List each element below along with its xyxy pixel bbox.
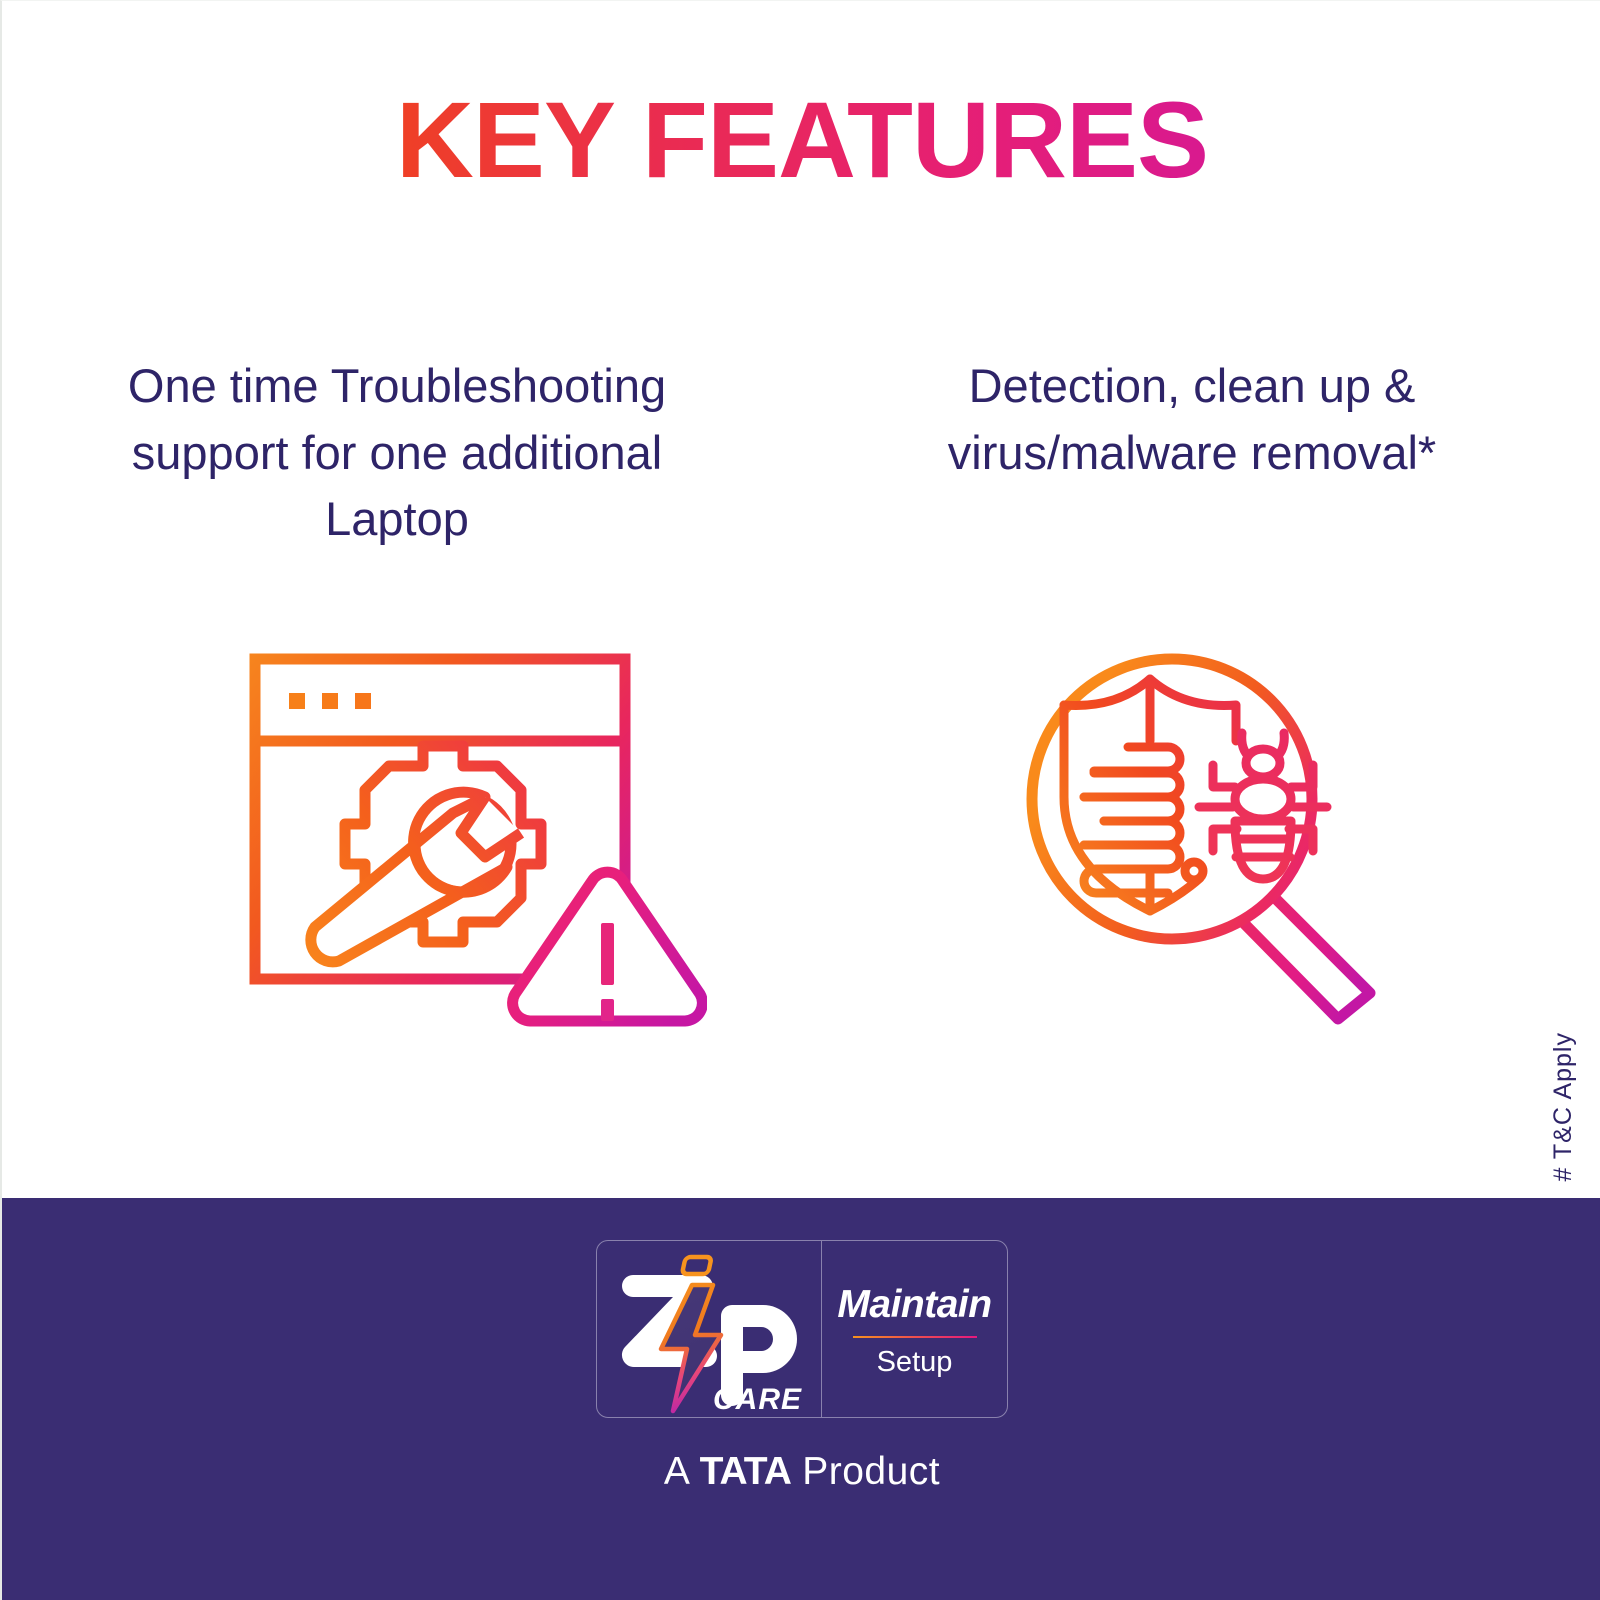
product-badge: Maintain Setup bbox=[822, 1241, 1007, 1417]
brand-logo-box: CARE Maintain Setup bbox=[596, 1240, 1008, 1418]
logo-care-text: CARE bbox=[713, 1383, 802, 1416]
feature-2-label: Detection, clean up & virus/malware remo… bbox=[902, 353, 1482, 486]
feature-column-2: Detection, clean up & virus/malware remo… bbox=[802, 353, 1600, 553]
tagline-suffix: Product bbox=[802, 1450, 940, 1493]
marketing-card: KEY FEATURES One time Troubleshooting su… bbox=[0, 0, 1600, 1600]
zipcare-logo: CARE bbox=[597, 1241, 822, 1417]
feature-icons bbox=[2, 621, 1600, 1051]
feature-column-1: One time Troubleshooting support for one… bbox=[2, 353, 802, 553]
tagline-brand: TATA bbox=[700, 1450, 791, 1493]
page-title: KEY FEATURES bbox=[2, 83, 1600, 196]
product-name: Maintain bbox=[837, 1285, 991, 1324]
browser-window-wrench-gear-warning-icon bbox=[227, 631, 707, 1056]
feature-columns: One time Troubleshooting support for one… bbox=[2, 353, 1600, 553]
logo-i-dot bbox=[682, 1257, 712, 1274]
tata-product-tagline: A TATA Product bbox=[2, 1450, 1600, 1494]
tagline-prefix: A bbox=[664, 1450, 688, 1493]
footer-band: CARE Maintain Setup A TATA Product bbox=[2, 1198, 1600, 1600]
terms-and-conditions-note: # T&C Apply bbox=[1549, 1032, 1578, 1182]
feature-1-label: One time Troubleshooting support for one… bbox=[62, 353, 732, 553]
product-tier: Setup bbox=[877, 1348, 953, 1377]
badge-divider bbox=[853, 1336, 977, 1338]
magnifier-shield-bug-icon bbox=[992, 621, 1412, 1046]
